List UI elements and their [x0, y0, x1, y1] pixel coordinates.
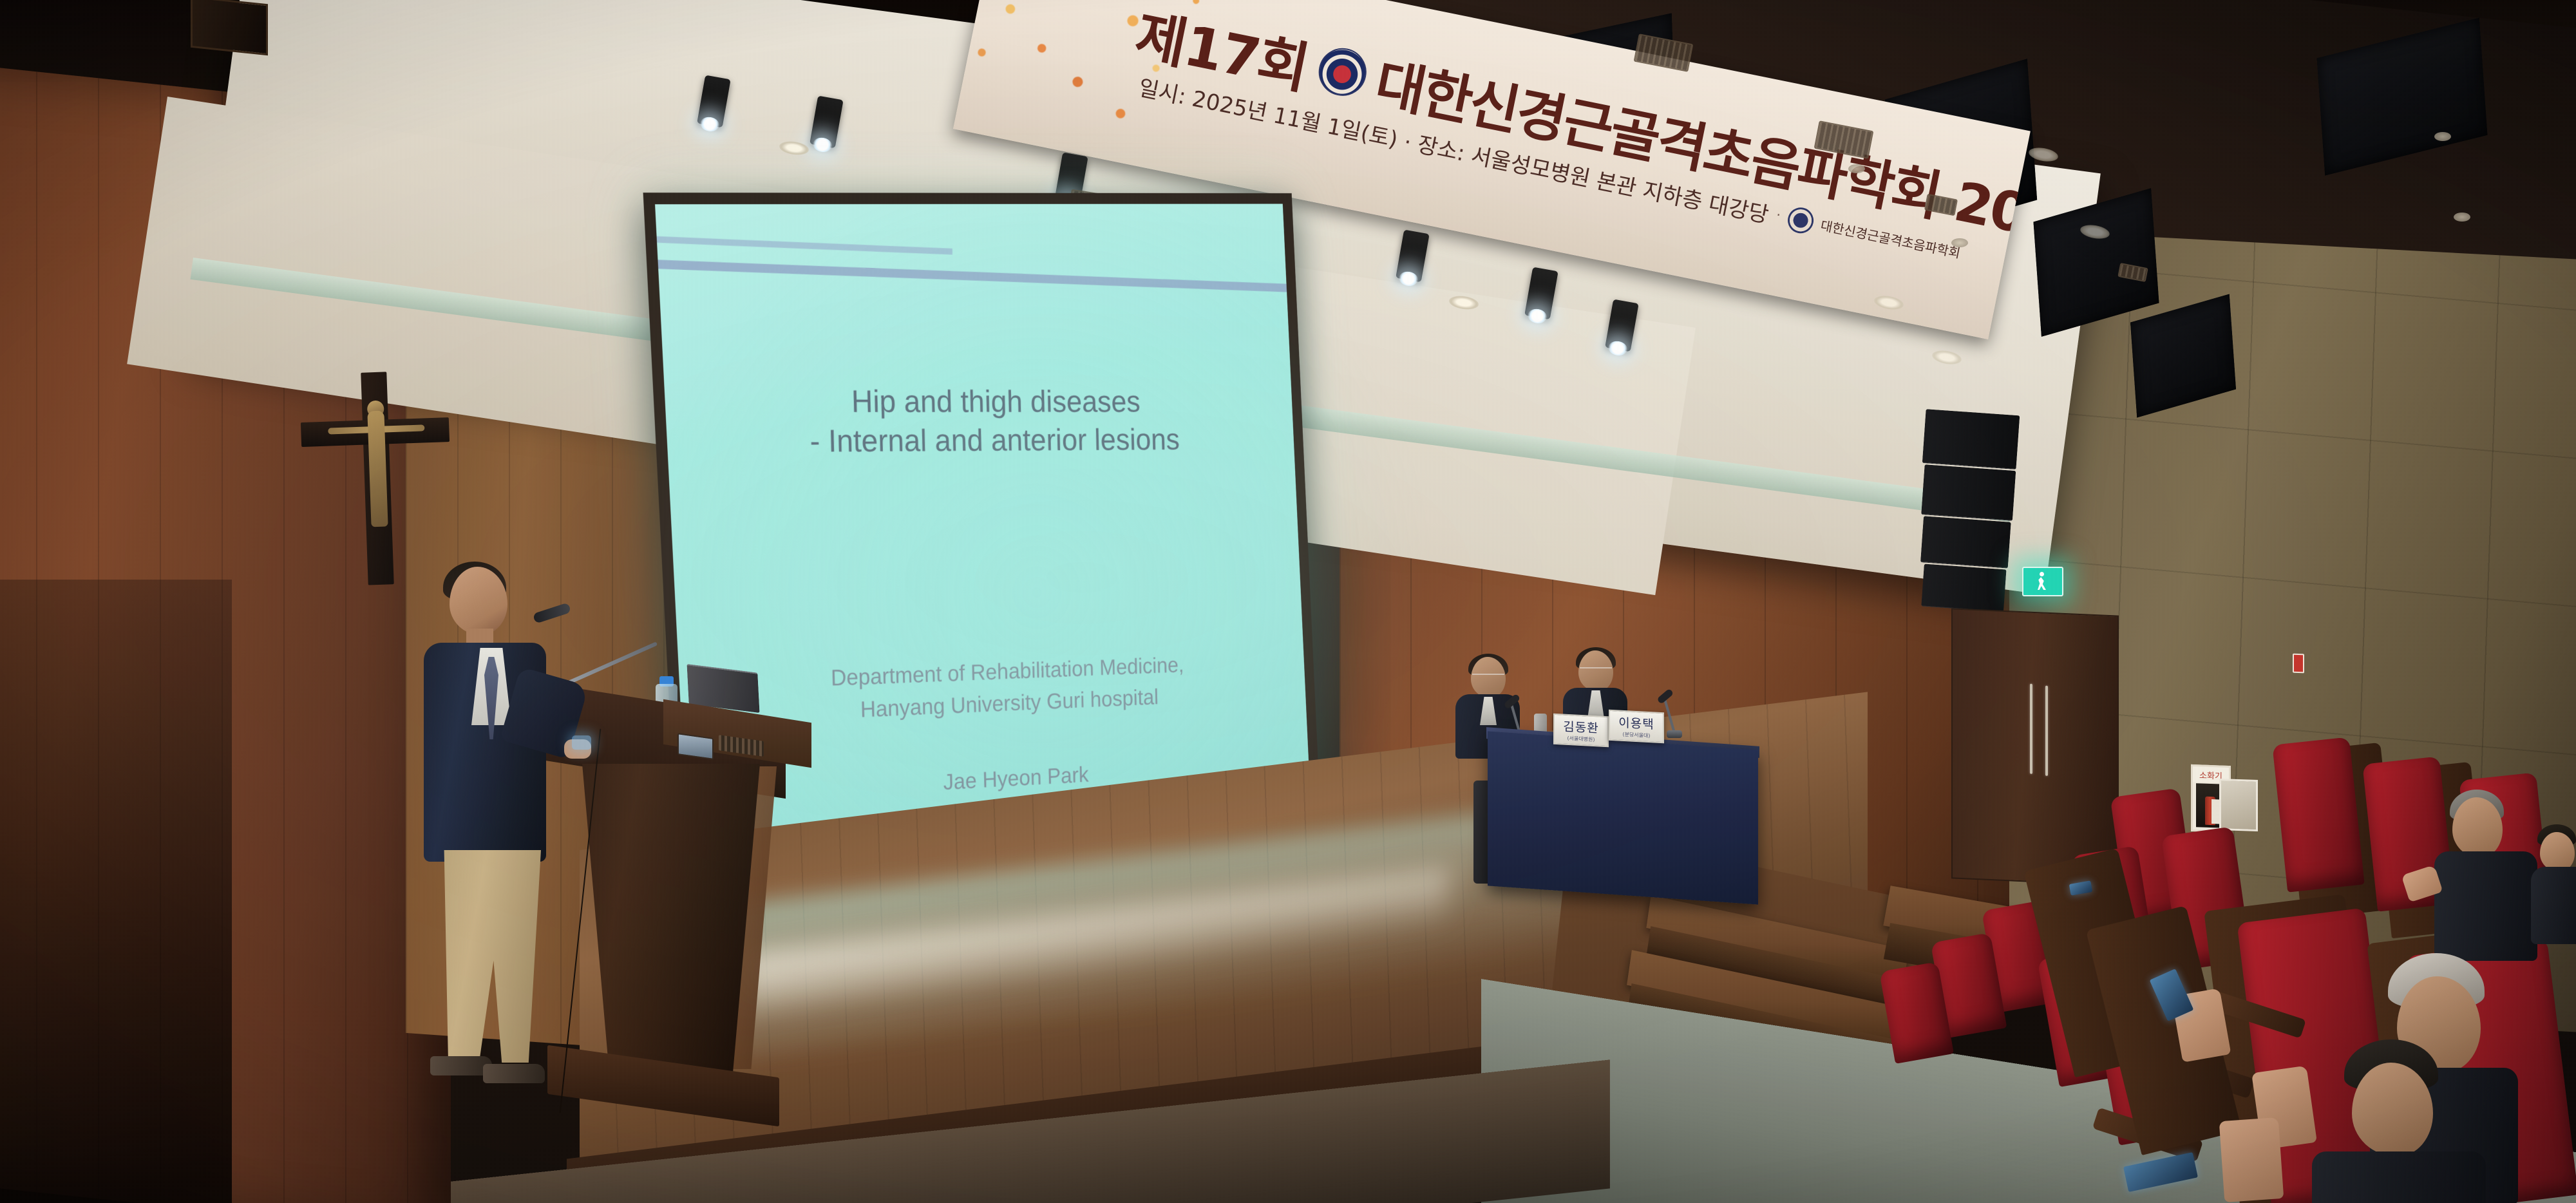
speaker-module [1922, 409, 2020, 469]
slide-accent-band [655, 259, 1315, 293]
door-handle-left[interactable] [2030, 684, 2032, 774]
audience-torso [2531, 867, 2576, 944]
speaker-module [1920, 516, 2011, 568]
speaker-module [1921, 464, 2016, 521]
panel-table-skirt [1488, 731, 1758, 904]
slide-title-line-2: - Internal and anterior lesions [704, 421, 1273, 462]
nameplate: 김동환 (서울대병원) [1553, 714, 1609, 748]
nameplate-org: (분당서울대) [1622, 731, 1650, 739]
presentation-clicker-icon [572, 735, 591, 750]
audience-member [2531, 824, 2576, 940]
framed-picture-icon [2219, 779, 2258, 831]
speaker-module [1921, 564, 2006, 612]
society-emblem-small-icon [1786, 205, 1816, 235]
presenter-trousers [438, 850, 541, 1063]
nameplate-name: 김동환 [1563, 717, 1598, 737]
smoke-detector-icon [2434, 132, 2451, 141]
crucifix-icon [299, 370, 454, 587]
audience-member [2202, 985, 2344, 1179]
presenter-shoe [483, 1064, 545, 1083]
door-handle-right[interactable] [2045, 686, 2048, 776]
society-emblem-icon [1314, 44, 1370, 100]
presenter-speaker [412, 567, 592, 1108]
fire-alarm-button-icon[interactable] [2293, 654, 2304, 674]
exit-pictogram [2036, 572, 2050, 591]
left-wall-shadow [0, 580, 232, 1203]
theater-seat[interactable] [2272, 737, 2364, 892]
audience-head [2452, 797, 2503, 858]
slide-affiliation: Department of Rehabilitation Medicine, H… [717, 645, 1284, 732]
eyeglasses-icon [1472, 674, 1504, 680]
running-man-exit-icon [2022, 567, 2063, 596]
framed-picture-icon [191, 0, 268, 55]
nameplate-org: (서울대병원) [1567, 735, 1595, 743]
slide-accent-band [655, 236, 952, 255]
audience-head [2540, 832, 2575, 872]
double-door-icon [1951, 608, 2119, 886]
nameplate: 이용택 (분당서울대) [1609, 710, 1664, 744]
desk-microphone-icon [1663, 699, 1676, 734]
slide-title-line-1: Hip and thigh diseases [703, 381, 1272, 422]
audience-torso [2434, 851, 2537, 961]
desk-microphone-base [1667, 730, 1682, 738]
smoke-detector-icon [2454, 213, 2470, 222]
smoke-detector-icon [1848, 164, 1865, 173]
banner-separator-dot: · [1775, 207, 1783, 224]
eyeglasses-icon [1580, 667, 1612, 674]
smoke-detector-icon [1951, 238, 1968, 247]
panel-moderator-table: 김동환 (서울대병원) 이용택 (분당서울대) [1436, 644, 1797, 902]
line-array-speaker-icon [1913, 409, 2023, 609]
slide-title: Hip and thigh diseases - Internal and an… [703, 381, 1273, 462]
nameplate-name: 이용택 [1618, 714, 1654, 733]
auditorium-photo: 제17회 대한신경근골격초음파학회 2025년 추계학술대회 일시: 2025년… [0, 0, 2576, 1203]
lectern-body [567, 764, 760, 1073]
